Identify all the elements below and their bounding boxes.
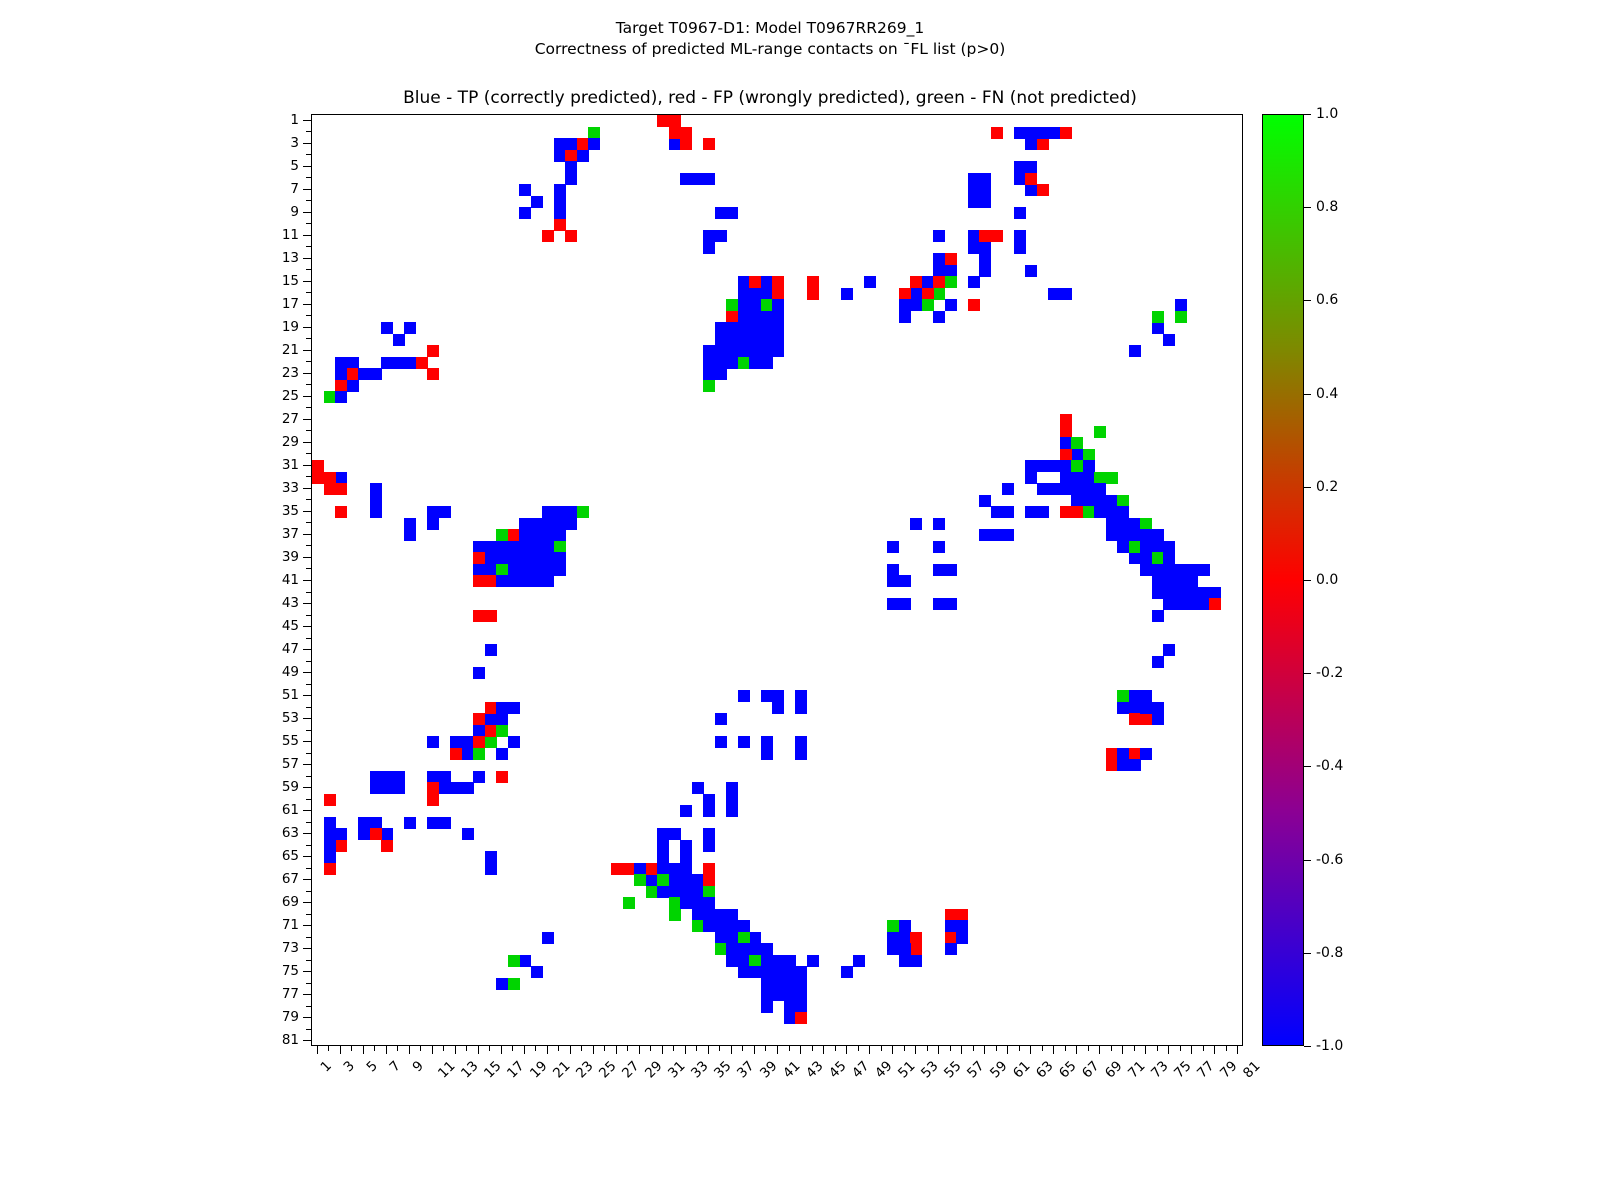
contact-cell-fn <box>646 886 658 898</box>
contact-cell-fn <box>1083 449 1095 461</box>
y-tick <box>306 983 311 984</box>
contact-cell-tp <box>726 805 738 817</box>
contact-cell-tp <box>1002 506 1014 518</box>
colorbar-tick-label: -0.4 <box>1316 760 1343 772</box>
contact-map-plot[interactable] <box>311 114 1243 1046</box>
x-tick <box>812 1046 813 1051</box>
colorbar-tick-label: 0.0 <box>1316 574 1338 586</box>
y-tick <box>306 684 311 685</box>
chart-title-block: Target T0967-D1: Model T0967RR269_1 Corr… <box>0 18 1540 60</box>
x-tick <box>673 1046 674 1051</box>
x-tick <box>789 1046 790 1051</box>
y-axis-label: 77 <box>241 988 299 1000</box>
y-tick <box>306 891 311 892</box>
contact-cell-tp <box>1117 506 1129 518</box>
contact-cell-tp <box>945 598 957 610</box>
contact-cell-tp <box>991 506 1003 518</box>
contact-cell-fp <box>680 127 692 139</box>
colorbar-tick <box>1304 207 1311 208</box>
colorbar-tick-label: -1.0 <box>1316 1040 1343 1052</box>
x-tick <box>1226 1046 1227 1051</box>
x-tick <box>547 1046 548 1054</box>
contact-cell-tp <box>749 966 761 978</box>
contact-cell-tp <box>335 368 347 380</box>
x-tick <box>558 1046 559 1051</box>
y-tick <box>303 695 311 696</box>
x-tick <box>1203 1046 1204 1051</box>
contact-cell-fp <box>577 138 589 150</box>
contact-cell-fp <box>347 368 359 380</box>
x-axis-label: 41 <box>780 1058 803 1081</box>
contact-cell-tp <box>1152 656 1164 668</box>
contact-cell-tp <box>979 242 991 254</box>
contact-cell-fp <box>1037 138 1049 150</box>
contact-cell-fp <box>726 311 738 323</box>
x-axis-label: 17 <box>504 1058 527 1081</box>
contact-cell-fp <box>335 380 347 392</box>
contact-cell-tp <box>715 909 727 921</box>
x-axis-label: 73 <box>1148 1058 1171 1081</box>
contact-cell-fp <box>485 702 497 714</box>
contact-cell-tp <box>933 564 945 576</box>
contact-cell-fp <box>899 288 911 300</box>
contact-cell-tp <box>749 932 761 944</box>
contact-cell-tp <box>1071 472 1083 484</box>
contact-cell-tp <box>1175 299 1187 311</box>
contact-cell-tp <box>841 966 853 978</box>
y-axis-label: 5 <box>241 160 299 172</box>
contact-cell-tp <box>933 518 945 530</box>
x-axis-label: 7 <box>386 1058 403 1075</box>
contact-cell-tp <box>324 840 336 852</box>
contact-cell-fp <box>416 357 428 369</box>
contact-cell-fp <box>749 276 761 288</box>
contact-cell-tp <box>1152 529 1164 541</box>
contact-cell-fn <box>669 909 681 921</box>
contact-cell-tp <box>531 518 543 530</box>
x-axis-label: 69 <box>1102 1058 1125 1081</box>
y-tick <box>303 856 311 857</box>
contact-cell-tp <box>1117 529 1129 541</box>
y-axis-label: 23 <box>241 367 299 379</box>
contact-cell-fn <box>1117 690 1129 702</box>
contact-cells-layer <box>312 115 1242 1045</box>
contact-cell-tp <box>784 978 796 990</box>
contact-cell-tp <box>1163 587 1175 599</box>
contact-cell-tp <box>795 989 807 1001</box>
contact-cell-tp <box>1163 644 1175 656</box>
x-tick <box>731 1046 732 1054</box>
x-tick <box>1122 1046 1123 1054</box>
contact-cell-tp <box>370 817 382 829</box>
contact-cell-tp <box>496 713 508 725</box>
contact-cell-fn <box>1083 506 1095 518</box>
contact-cell-tp <box>554 529 566 541</box>
contact-cell-tp <box>1129 552 1141 564</box>
contact-cell-fn <box>496 564 508 576</box>
contact-cell-fn <box>508 978 520 990</box>
contact-cell-tp <box>968 242 980 254</box>
contact-cell-tp <box>1129 690 1141 702</box>
x-tick <box>846 1046 847 1054</box>
contact-cell-tp <box>485 863 497 875</box>
contact-cell-tp <box>404 322 416 334</box>
x-tick <box>420 1046 421 1051</box>
contact-cell-tp <box>565 173 577 185</box>
contact-cell-tp <box>381 771 393 783</box>
y-tick <box>306 707 311 708</box>
contact-cell-tp <box>968 276 980 288</box>
contact-cell-tp <box>715 932 727 944</box>
x-tick <box>777 1046 778 1054</box>
contact-cell-fp <box>772 276 784 288</box>
contact-cell-tp <box>784 989 796 1001</box>
contact-cell-tp <box>726 920 738 932</box>
y-tick <box>303 994 311 995</box>
y-tick <box>306 292 311 293</box>
x-tick <box>317 1046 318 1054</box>
contact-cell-tp <box>1048 127 1060 139</box>
x-tick <box>512 1046 513 1051</box>
x-tick <box>892 1046 893 1054</box>
contact-cell-tp <box>1140 748 1152 760</box>
contact-cell-tp <box>335 357 347 369</box>
x-tick <box>616 1046 617 1054</box>
contact-cell-tp <box>968 173 980 185</box>
contact-cell-tp <box>738 311 750 323</box>
contact-cell-tp <box>899 575 911 587</box>
contact-cell-fn <box>588 127 600 139</box>
y-axis-label: 17 <box>241 298 299 310</box>
contact-cell-tp <box>1117 702 1129 714</box>
y-axis-label: 53 <box>241 712 299 724</box>
colorbar-tick-label: 1.0 <box>1316 108 1338 120</box>
contact-cell-tp <box>715 230 727 242</box>
x-tick <box>1007 1046 1008 1054</box>
x-axis-label: 21 <box>550 1058 573 1081</box>
contact-cell-fp <box>370 828 382 840</box>
y-tick <box>303 120 311 121</box>
contact-cell-tp <box>726 345 738 357</box>
y-tick <box>303 143 311 144</box>
contact-cell-tp <box>979 265 991 277</box>
x-tick <box>869 1046 870 1054</box>
contact-cell-tp <box>1071 483 1083 495</box>
contact-cell-tp <box>726 794 738 806</box>
contact-cell-tp <box>657 840 669 852</box>
y-tick <box>303 557 311 558</box>
contact-cell-tp <box>726 357 738 369</box>
contact-cell-tp <box>1083 483 1095 495</box>
y-axis-label: 21 <box>241 344 299 356</box>
contact-cell-tp <box>715 920 727 932</box>
contact-cell-tp <box>404 529 416 541</box>
contact-cell-tp <box>508 575 520 587</box>
contact-cell-fp <box>312 472 324 484</box>
contact-cell-tp <box>703 368 715 380</box>
contact-cell-tp <box>485 541 497 553</box>
contact-cell-fp <box>703 874 715 886</box>
contact-cell-tp <box>979 529 991 541</box>
x-tick <box>938 1046 939 1054</box>
contact-cell-tp <box>749 943 761 955</box>
y-tick <box>303 373 311 374</box>
contact-cell-tp <box>761 357 773 369</box>
x-axis-label: 49 <box>872 1058 895 1081</box>
x-axis-label: 23 <box>573 1058 596 1081</box>
y-axis-label: 51 <box>241 689 299 701</box>
contact-cell-tp <box>1037 506 1049 518</box>
x-tick <box>708 1046 709 1054</box>
x-axis-label: 81 <box>1240 1058 1263 1081</box>
contact-cell-tp <box>1117 748 1129 760</box>
contact-cell-tp <box>370 495 382 507</box>
contact-cell-tp <box>393 771 405 783</box>
x-tick <box>604 1046 605 1051</box>
contact-cell-fp <box>485 725 497 737</box>
contact-cell-tp <box>531 966 543 978</box>
contact-cell-tp <box>703 828 715 840</box>
contact-cell-tp <box>485 644 497 656</box>
contact-cell-tp <box>646 874 658 886</box>
y-tick <box>303 1040 311 1041</box>
contact-cell-fp <box>473 552 485 564</box>
contact-cell-tp <box>761 943 773 955</box>
x-tick <box>858 1046 859 1051</box>
contact-cell-tp <box>933 265 945 277</box>
x-tick <box>351 1046 352 1051</box>
contact-cell-tp <box>335 828 347 840</box>
contact-cell-tp <box>761 311 773 323</box>
contact-cell-tp <box>427 736 439 748</box>
colorbar-tick <box>1304 1046 1311 1047</box>
x-axis-label: 35 <box>711 1058 734 1081</box>
y-tick <box>303 764 311 765</box>
y-axis-label: 49 <box>241 666 299 678</box>
contact-cell-tp <box>910 299 922 311</box>
contact-cell-fn <box>577 506 589 518</box>
contact-cell-tp <box>1163 575 1175 587</box>
contact-cell-tp <box>703 840 715 852</box>
contact-cell-tp <box>1140 702 1152 714</box>
y-axis-label: 7 <box>241 183 299 195</box>
y-tick <box>303 787 311 788</box>
x-tick <box>927 1046 928 1051</box>
x-tick <box>570 1046 571 1054</box>
y-tick <box>303 902 311 903</box>
contact-cell-fn <box>1140 518 1152 530</box>
contact-cell-tp <box>749 345 761 357</box>
x-axis-label: 39 <box>757 1058 780 1081</box>
contact-cell-tp <box>1129 345 1141 357</box>
contact-cell-tp <box>531 541 543 553</box>
x-tick <box>455 1046 456 1054</box>
contact-cell-tp <box>473 541 485 553</box>
contact-cell-tp <box>749 357 761 369</box>
contact-cell-fp <box>991 230 1003 242</box>
contact-cell-tp <box>324 817 336 829</box>
y-tick <box>306 269 311 270</box>
contact-cell-tp <box>703 173 715 185</box>
contact-cell-tp <box>1060 483 1072 495</box>
x-tick <box>1237 1046 1238 1054</box>
contact-cell-fp <box>703 138 715 150</box>
y-axis-label: 13 <box>241 252 299 264</box>
contact-cell-tp <box>1094 506 1106 518</box>
contact-cell-tp <box>933 230 945 242</box>
y-axis-label: 3 <box>241 137 299 149</box>
y-tick <box>306 246 311 247</box>
contact-cell-tp <box>531 575 543 587</box>
contact-cell-fp <box>910 276 922 288</box>
contact-cell-tp <box>485 552 497 564</box>
contact-cell-tp <box>462 748 474 760</box>
contact-cell-tp <box>738 299 750 311</box>
contact-cell-tp <box>554 196 566 208</box>
x-axis-label: 15 <box>481 1058 504 1081</box>
contact-cell-tp <box>370 506 382 518</box>
contact-cell-fp <box>910 943 922 955</box>
contact-cell-tp <box>761 748 773 760</box>
contact-cell-tp <box>358 828 370 840</box>
contact-cell-tp <box>381 828 393 840</box>
y-axis-label: 39 <box>241 551 299 563</box>
y-tick <box>303 465 311 466</box>
y-axis-label: 67 <box>241 873 299 885</box>
y-tick <box>303 304 311 305</box>
contact-cell-tp <box>795 978 807 990</box>
x-axis-label: 3 <box>340 1058 357 1075</box>
contact-cell-tp <box>1106 506 1118 518</box>
contact-cell-tp <box>726 932 738 944</box>
y-tick <box>303 534 311 535</box>
x-axis-label: 77 <box>1194 1058 1217 1081</box>
x-axis-label: 1 <box>317 1058 334 1075</box>
contact-cell-tp <box>738 288 750 300</box>
contact-cell-tp <box>761 690 773 702</box>
y-axis-label: 9 <box>241 206 299 218</box>
contact-cell-tp <box>1175 575 1187 587</box>
x-tick <box>1088 1046 1089 1051</box>
contact-cell-tp <box>657 863 669 875</box>
contact-cell-fn <box>1117 495 1129 507</box>
contact-cell-tp <box>1163 564 1175 576</box>
contact-cell-tp <box>1186 564 1198 576</box>
contact-cell-tp <box>749 334 761 346</box>
contact-cell-tp <box>772 702 784 714</box>
contact-cell-fn <box>945 276 957 288</box>
contact-cell-tp <box>427 771 439 783</box>
y-tick <box>306 799 311 800</box>
contact-cell-tp <box>669 886 681 898</box>
contact-cell-tp <box>795 736 807 748</box>
contact-cell-tp <box>726 909 738 921</box>
y-axis-label: 59 <box>241 781 299 793</box>
y-tick <box>303 212 311 213</box>
contact-cell-tp <box>715 322 727 334</box>
contact-cell-tp <box>370 483 382 495</box>
contact-cell-fp <box>324 472 336 484</box>
contact-cell-tp <box>1060 437 1072 449</box>
contact-cell-tp <box>1025 138 1037 150</box>
contact-cell-tp <box>933 253 945 265</box>
contact-cell-fp <box>979 230 991 242</box>
contact-cell-tp <box>933 311 945 323</box>
contact-cell-tp <box>565 138 577 150</box>
y-tick <box>306 131 311 132</box>
contact-cell-tp <box>864 276 876 288</box>
x-tick <box>1111 1046 1112 1051</box>
colorbar-tick <box>1304 394 1311 395</box>
y-tick <box>303 488 311 489</box>
contact-cell-fp <box>945 932 957 944</box>
contact-cell-tp <box>692 782 704 794</box>
contact-cell-tp <box>807 955 819 967</box>
y-tick <box>303 258 311 259</box>
contact-cell-tp <box>979 196 991 208</box>
y-axis-label: 81 <box>241 1034 299 1046</box>
contact-cell-fp <box>335 840 347 852</box>
x-axis-label: 5 <box>363 1058 380 1075</box>
x-tick <box>1099 1046 1100 1054</box>
contact-cell-tp <box>404 357 416 369</box>
y-tick <box>303 580 311 581</box>
contact-cell-fp <box>427 368 439 380</box>
contact-cell-tp <box>381 357 393 369</box>
contact-cell-tp <box>726 334 738 346</box>
contact-cell-tp <box>462 782 474 794</box>
contact-cell-tp <box>1186 598 1198 610</box>
x-tick <box>1180 1046 1181 1051</box>
contact-cell-tp <box>370 771 382 783</box>
contact-cell-tp <box>772 345 784 357</box>
x-tick <box>489 1046 490 1051</box>
contact-cell-tp <box>738 322 750 334</box>
x-tick <box>593 1046 594 1054</box>
contact-cell-tp <box>1014 230 1026 242</box>
y-axis-label: 47 <box>241 643 299 655</box>
contact-cell-tp <box>887 575 899 587</box>
y-axis-label: 63 <box>241 827 299 839</box>
contact-cell-tp <box>772 978 784 990</box>
contact-cell-fn <box>496 529 508 541</box>
y-tick <box>306 476 311 477</box>
contact-cell-tp <box>381 322 393 334</box>
contact-cell-tp <box>1048 460 1060 472</box>
contact-cell-tp <box>531 564 543 576</box>
y-tick <box>303 442 311 443</box>
contact-cell-tp <box>1152 564 1164 576</box>
x-axis-label: 51 <box>895 1058 918 1081</box>
contact-cell-tp <box>473 771 485 783</box>
x-tick <box>1065 1046 1066 1051</box>
x-tick <box>904 1046 905 1051</box>
x-axis-label: 19 <box>527 1058 550 1081</box>
contact-cell-tp <box>1175 564 1187 576</box>
contact-cell-tp <box>427 518 439 530</box>
contact-cell-fp <box>473 575 485 587</box>
contact-cell-tp <box>439 506 451 518</box>
y-tick <box>306 822 311 823</box>
contact-cell-tp <box>692 874 704 886</box>
contact-cell-tp <box>680 805 692 817</box>
contact-cell-fp <box>450 748 462 760</box>
contact-cell-fn <box>692 920 704 932</box>
contact-cell-tp <box>680 874 692 886</box>
contact-cell-fn <box>473 748 485 760</box>
x-tick <box>719 1046 720 1051</box>
contact-cell-fp <box>657 115 669 127</box>
